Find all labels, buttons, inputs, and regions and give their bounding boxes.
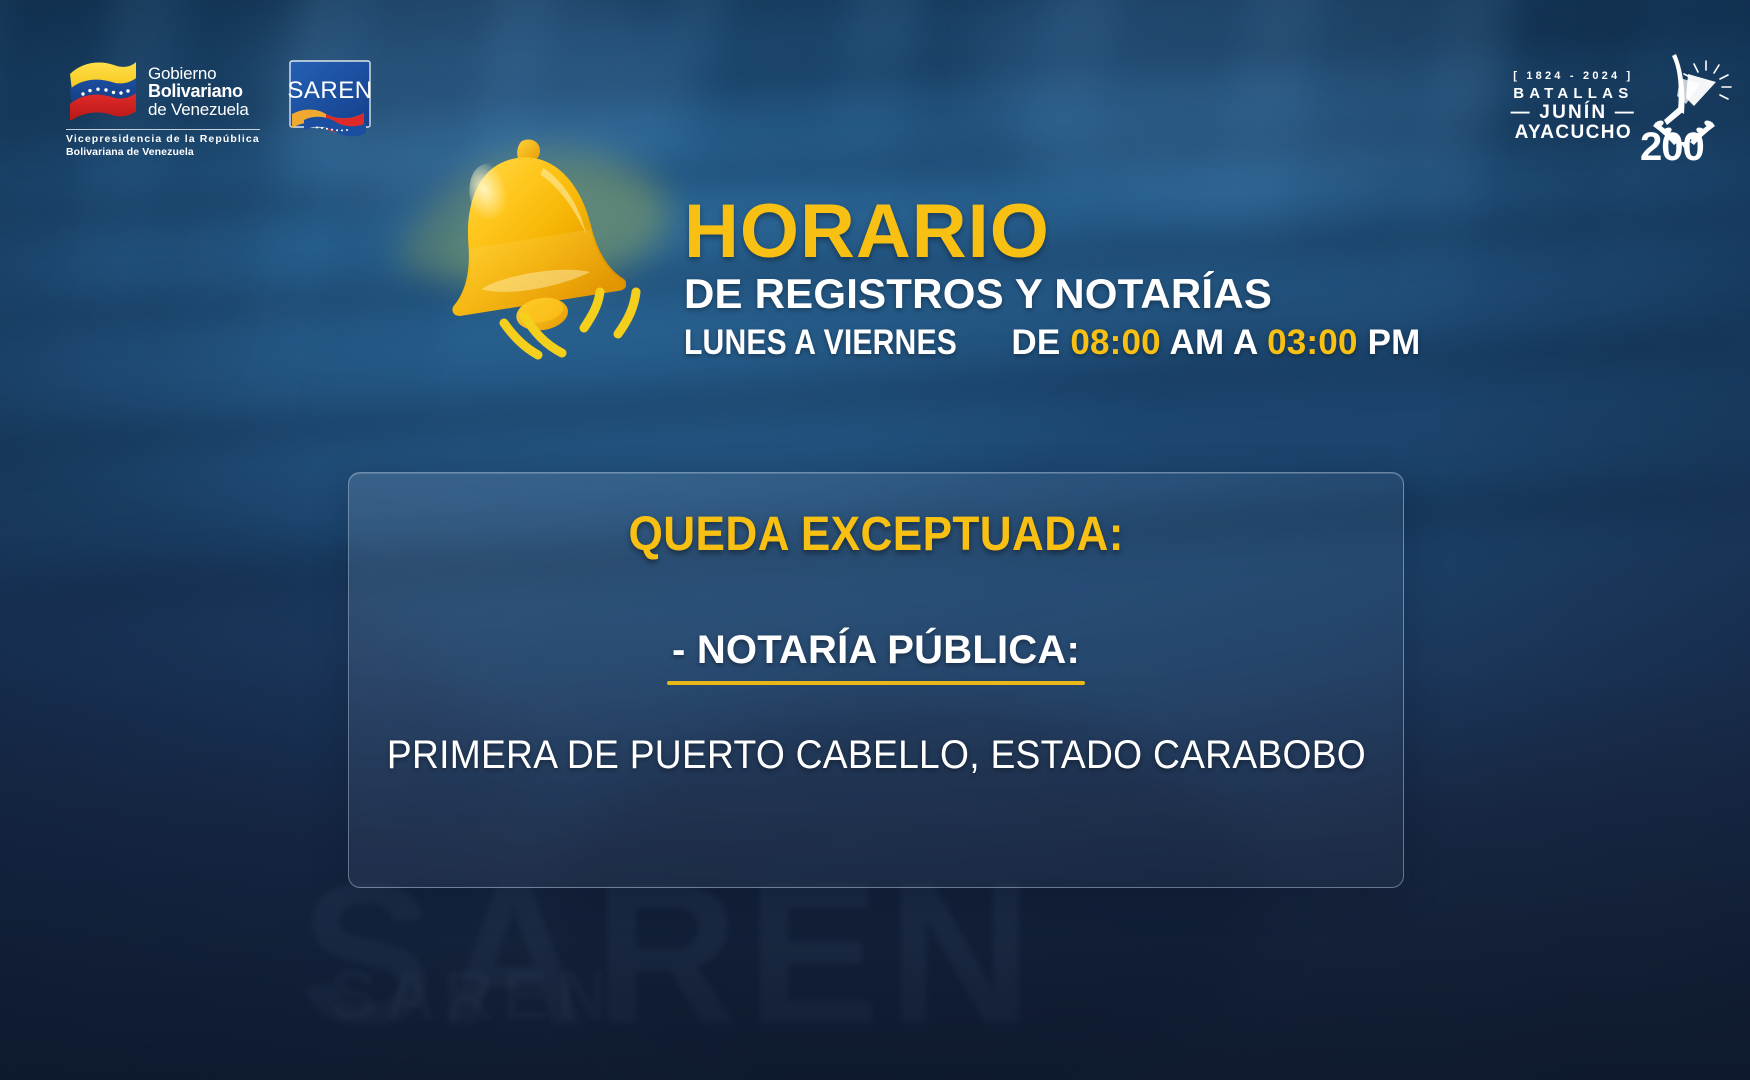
bicentenary-number: 200 [1640, 125, 1704, 170]
government-logo: Gobierno Bolivariano de Venezuela Vicepr… [66, 58, 260, 160]
divider [66, 129, 260, 130]
exception-panel: QUEDA EXCEPTUADA: - NOTARÍA PÚBLICA: PRI… [348, 472, 1404, 888]
bell-motion-lines-bottom [494, 313, 584, 393]
bicentenary-logo: [ 1824 - 2024 ] BATALLAS — JUNÍN — AYACU… [1511, 48, 1732, 166]
bicentenary-years: [ 1824 - 2024 ] [1511, 71, 1636, 83]
schedule-days: LUNES A VIERNES [684, 323, 957, 363]
poster-canvas: SAREN SAREN [0, 0, 1750, 1080]
gov-line-2: Bolivariano [148, 82, 249, 100]
heading-block: HORARIO DE REGISTROS Y NOTARÍAS LUNES A … [684, 196, 1420, 363]
exception-item-detail: PRIMERA DE PUERTO CABELLO, ESTADO CARABO… [386, 733, 1365, 778]
bicentenary-junin: — JUNÍN — [1511, 103, 1636, 123]
bell-illustration [378, 125, 678, 385]
venezuela-flag-icon [66, 58, 140, 125]
time-to-period: PM [1368, 323, 1421, 362]
gov-line-1: Gobierno [148, 65, 249, 82]
exception-item-label: - NOTARÍA PÚBLICA: [667, 628, 1085, 673]
page-title: HORARIO [684, 196, 1420, 269]
page-subtitle: DE REGISTROS Y NOTARÍAS [684, 271, 1420, 316]
saren-logo: SAREN [286, 58, 378, 146]
svg-text:SAREN: SAREN [287, 77, 372, 104]
exception-heading: QUEDA EXCEPTUADA: [628, 507, 1123, 562]
gov-line-3: de Venezuela [148, 101, 249, 118]
logo-group: Gobierno Bolivariano de Venezuela Vicepr… [66, 58, 378, 160]
schedule-line: LUNES A VIERNES DE 08:00 AM A 03:00 PM [684, 323, 1420, 363]
time-from: 08:00 [1070, 323, 1161, 362]
saren-logo-icon: SAREN [286, 58, 378, 146]
gov-sub-line-1: Vicepresidencia de la República [66, 133, 260, 146]
schedule-de: DE [1011, 323, 1060, 362]
gov-sub-line-2: Bolivariana de Venezuela [66, 146, 260, 159]
time-to: 03:00 [1267, 323, 1358, 362]
bicentenary-ayacucho: AYACUCHO [1511, 123, 1636, 143]
time-from-period: AM [1169, 323, 1224, 362]
underline-accent [667, 681, 1085, 685]
bicentenary-batallas: BATALLAS [1511, 86, 1636, 102]
schedule-a: A [1233, 323, 1257, 362]
